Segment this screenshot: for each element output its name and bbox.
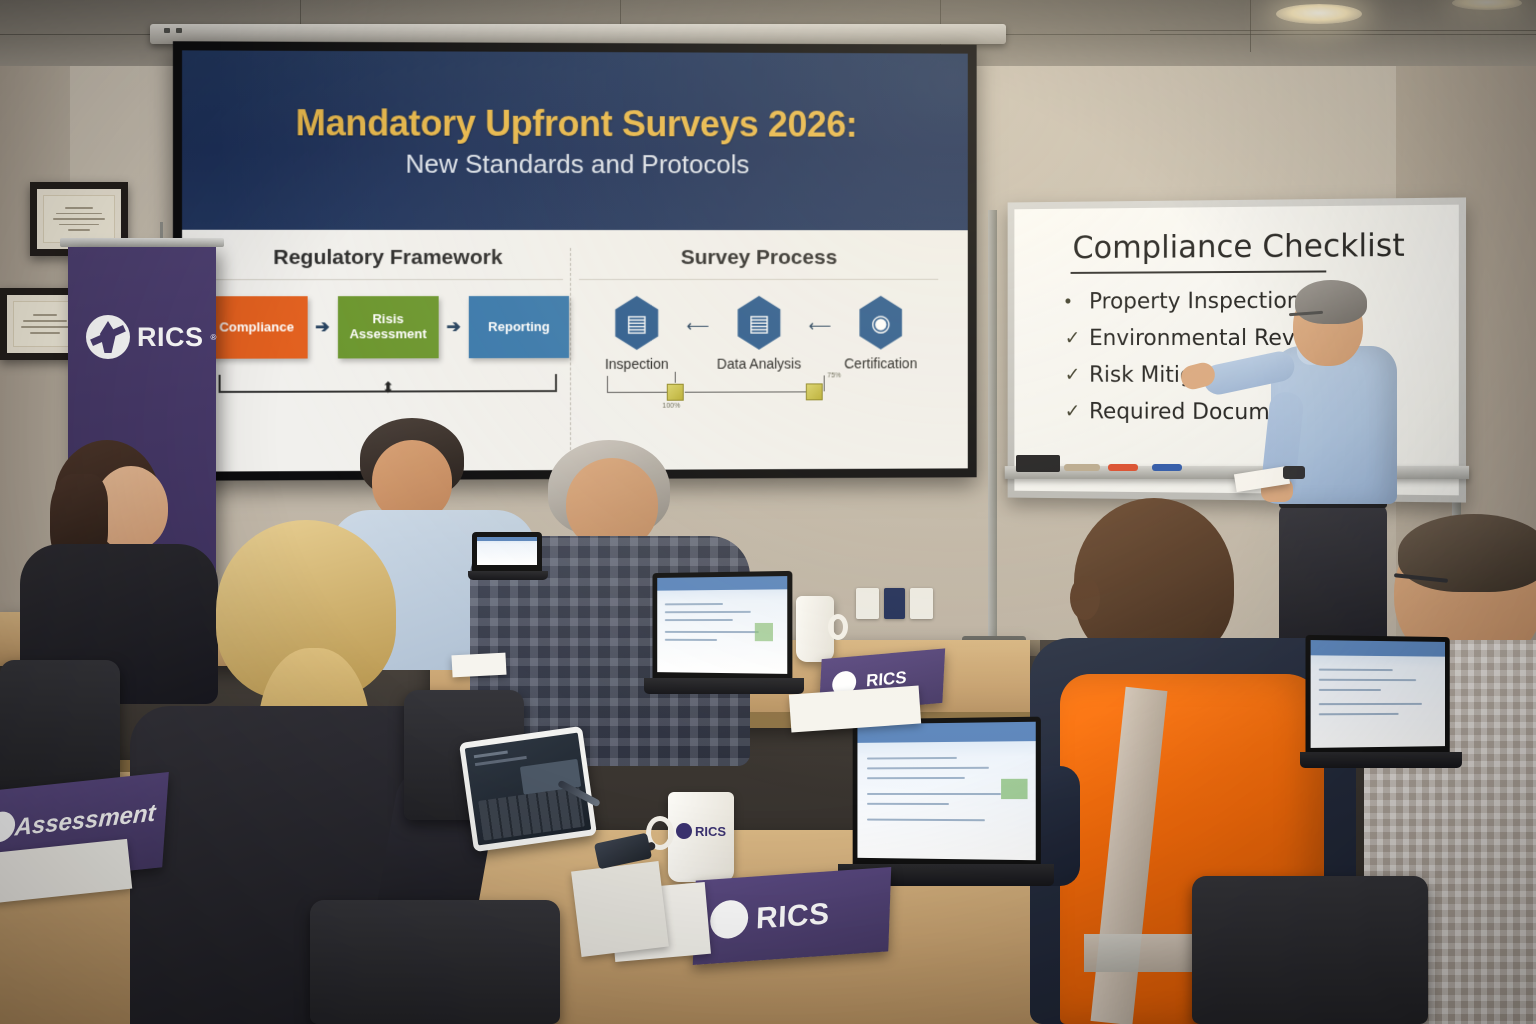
slide-subtitle: New Standards and Protocols xyxy=(405,148,749,180)
laptop-display xyxy=(1311,640,1445,748)
laptop-right[interactable] xyxy=(1306,636,1458,776)
coffee-mug-rics[interactable]: RICS xyxy=(668,792,734,882)
presentation-slide: Mandatory Upfront Surveys 2026: New Stan… xyxy=(182,50,968,471)
blue-marker[interactable] xyxy=(1152,464,1182,471)
badge-person-icon: ◉ xyxy=(856,296,905,350)
rics-wordmark: RICS xyxy=(137,322,204,353)
power-outlet-right[interactable] xyxy=(910,588,933,619)
rics-emblem-icon xyxy=(86,315,130,359)
rics-emblem-icon xyxy=(710,899,749,940)
framework-flow: Compliance ➔ Risis Assessment ➔ Reportin… xyxy=(204,296,570,359)
document-word: Assessment xyxy=(14,799,157,842)
step-arrow-icon: ⟵ xyxy=(809,296,832,336)
bullet-icon: • xyxy=(1065,291,1081,313)
check-icon: ✓ xyxy=(1065,400,1081,423)
whiteboard-stand-left xyxy=(988,210,997,650)
laptop-display xyxy=(857,722,1035,860)
flow-box-reporting: Reporting xyxy=(469,296,569,358)
title-underline xyxy=(1071,270,1327,273)
whiteboard-eraser[interactable] xyxy=(1016,455,1060,472)
flow-node-marker xyxy=(805,383,822,400)
trademark-symbol: ® xyxy=(211,333,217,342)
laptop-display xyxy=(477,537,537,565)
wristwatch xyxy=(1283,466,1305,479)
power-outlet-left[interactable] xyxy=(856,588,879,619)
rics-booklet-front[interactable]: RICS xyxy=(693,867,891,965)
handout-sheet[interactable] xyxy=(451,653,506,678)
process-steps: ▤ Inspection ⟵ ▤ Data Analysis ⟵ ◉ Certi… xyxy=(571,296,947,372)
check-icon: ✓ xyxy=(1065,364,1081,387)
flow-box-risk-assessment: Risis Assessment xyxy=(338,296,439,358)
mug-handle xyxy=(828,614,848,640)
flow-box-compliance: Compliance xyxy=(206,296,307,359)
clipboard-icon: ▤ xyxy=(612,296,662,350)
flow-arrow-icon: ➔ xyxy=(315,317,329,337)
attendee-hair xyxy=(1398,514,1536,592)
whiteboard-title: Compliance Checklist xyxy=(1073,227,1405,266)
office-chair[interactable] xyxy=(310,900,560,1024)
attendee-ear xyxy=(1070,576,1100,620)
step-label: Certification xyxy=(835,355,926,371)
survey-process-heading: Survey Process xyxy=(579,246,939,280)
red-marker[interactable] xyxy=(1108,464,1138,471)
pen-marker[interactable] xyxy=(1064,464,1100,471)
training-room-scene: Mandatory Upfront Surveys 2026: New Stan… xyxy=(0,0,1536,1024)
flow-node-label: 100% xyxy=(662,403,680,410)
step-certification: ◉ Certification xyxy=(835,296,926,372)
slide-header: Mandatory Upfront Surveys 2026: New Stan… xyxy=(182,50,968,230)
flow-node-label: 75% xyxy=(827,372,841,379)
laptop-display xyxy=(657,576,787,674)
survey-process-column: Survey Process ▤ Inspection ⟵ ▤ Data Ana… xyxy=(571,246,947,462)
rics-logo: RICS ® xyxy=(86,315,216,359)
flow-arrow-icon: ➔ xyxy=(446,317,460,337)
mug-logo: RICS xyxy=(676,820,726,842)
slide-title: Mandatory Upfront Surveys 2026: xyxy=(296,102,858,146)
banner-top-rail xyxy=(60,238,224,247)
regulatory-framework-heading: Regulatory Framework xyxy=(212,246,562,280)
notepad[interactable] xyxy=(571,861,669,957)
process-sub-flow: 100% 75% xyxy=(571,373,947,420)
projection-screen: Mandatory Upfront Surveys 2026: New Stan… xyxy=(173,41,977,481)
feedback-loop: ⬍ xyxy=(219,370,557,397)
check-icon: ✓ xyxy=(1065,327,1081,350)
step-label: Inspection xyxy=(591,356,683,372)
step-inspection: ▤ Inspection xyxy=(591,296,683,372)
loop-arrow-icon: ⬍ xyxy=(382,383,395,393)
document-icon: ▤ xyxy=(734,296,784,350)
slide-body: Regulatory Framework Compliance ➔ Risis … xyxy=(182,230,968,472)
step-label: Data Analysis xyxy=(713,356,804,372)
laptop-centre[interactable] xyxy=(650,572,802,702)
laptop-left-back[interactable] xyxy=(472,532,544,582)
presenter-hair xyxy=(1295,280,1367,324)
step-arrow-icon: ⟵ xyxy=(687,296,710,336)
booklet-brand: RICS xyxy=(755,897,830,936)
ceiling-light xyxy=(1276,4,1362,24)
flow-node-marker xyxy=(666,384,683,401)
data-port-plate[interactable] xyxy=(884,588,905,619)
office-chair[interactable] xyxy=(1192,876,1428,1024)
step-data-analysis: ▤ Data Analysis xyxy=(713,296,804,372)
